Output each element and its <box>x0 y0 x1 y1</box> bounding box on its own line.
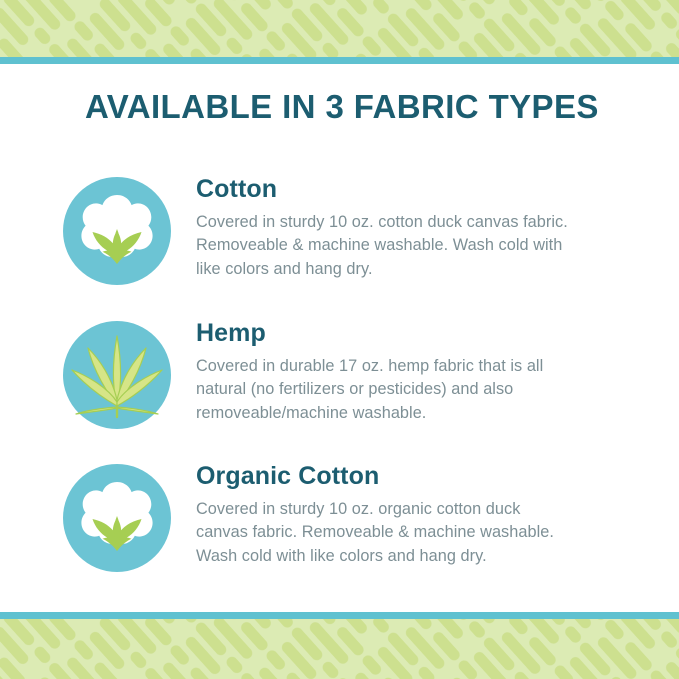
feature-description: Covered in sturdy 10 oz. organic cotton … <box>196 498 568 567</box>
feature-text-block: Organic Cotton Covered in sturdy 10 oz. … <box>196 455 568 568</box>
bottom-band-teal-rule <box>0 612 679 619</box>
cotton-boll-icon <box>62 455 172 573</box>
feature-heading: Organic Cotton <box>196 463 568 489</box>
bottom-band-pattern <box>0 619 679 679</box>
top-decorative-band <box>0 0 679 64</box>
top-band-teal-rule <box>0 57 679 64</box>
feature-description: Covered in durable 17 oz. hemp fabric th… <box>196 355 568 424</box>
hemp-leaf-icon <box>62 312 172 430</box>
feature-heading: Hemp <box>196 320 568 346</box>
list-item: Hemp Covered in durable 17 oz. hemp fabr… <box>0 312 679 430</box>
page-title: AVAILABLE IN 3 FABRIC TYPES <box>85 88 599 126</box>
feature-text-block: Cotton Covered in sturdy 10 oz. cotton d… <box>196 168 568 281</box>
feature-heading: Cotton <box>196 176 568 202</box>
bottom-decorative-band <box>0 612 679 679</box>
list-item: Organic Cotton Covered in sturdy 10 oz. … <box>0 455 679 573</box>
top-band-pattern <box>0 0 679 57</box>
feature-description: Covered in sturdy 10 oz. cotton duck can… <box>196 211 568 280</box>
fabric-type-list: Cotton Covered in sturdy 10 oz. cotton d… <box>0 168 679 573</box>
fabric-types-infographic: AVAILABLE IN 3 FABRIC TYPES Cotton Cover… <box>0 0 679 679</box>
cotton-boll-icon <box>62 168 172 286</box>
list-item: Cotton Covered in sturdy 10 oz. cotton d… <box>0 168 679 286</box>
feature-text-block: Hemp Covered in durable 17 oz. hemp fabr… <box>196 312 568 425</box>
